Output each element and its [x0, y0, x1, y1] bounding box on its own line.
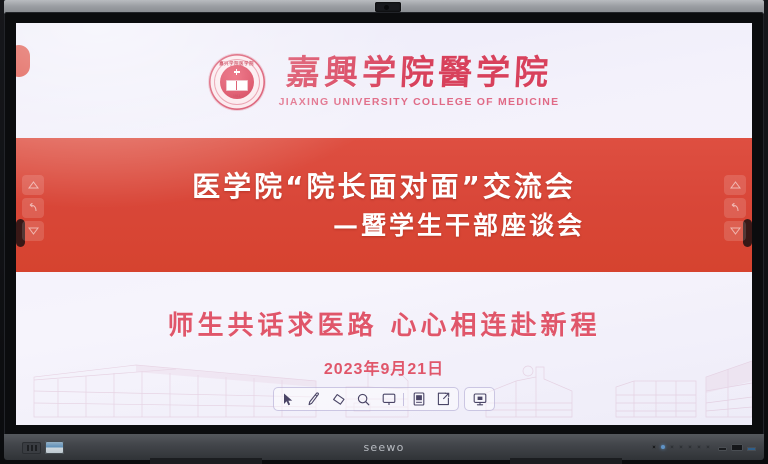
toolbar-eraser-button[interactable]: [326, 389, 351, 409]
eraser-icon: [332, 393, 346, 406]
back-arrow-icon: [729, 203, 741, 213]
toolbar-cast-group[interactable]: [464, 387, 495, 411]
interactive-display-device: 嘉兴学院医学院 1911 嘉興学院醫学院 JIAXING UNIVERSITY …: [0, 0, 768, 464]
camera-module: [375, 2, 401, 12]
chin-indicator-lights: [652, 445, 710, 449]
toolbar-cursor-button[interactable]: [276, 389, 301, 409]
slide-date: 2023年9月21日: [16, 355, 752, 379]
toolbar-search-button[interactable]: [351, 389, 376, 409]
title-banner: 医学院“院长面对面”交流会 —暨学生干部座谈会: [16, 138, 752, 272]
display-screen[interactable]: 嘉兴学院医学院 1911 嘉興学院醫学院 JIAXING UNIVERSITY …: [16, 23, 752, 425]
university-seal-logo: 嘉兴学院医学院 1911: [209, 54, 265, 110]
toolbar-divider: [403, 393, 404, 406]
right-side-nav[interactable]: [724, 175, 746, 241]
stand-leg-right: [510, 458, 622, 464]
institution-name-cn: 嘉興学院醫学院: [285, 56, 553, 92]
back-arrow-icon: [27, 203, 39, 213]
annotation-toolbar[interactable]: [273, 387, 495, 411]
arrow-down-icon: [28, 227, 39, 235]
arrow-down-icon: [730, 227, 741, 235]
port-hdmi[interactable]: [718, 447, 727, 451]
search-icon: [357, 393, 370, 406]
power-led: [652, 445, 656, 449]
institution-wordmark: 嘉興学院醫学院 JIAXING UNIVERSITY COLLEGE OF ME…: [279, 56, 560, 108]
institution-name-en: JIAXING UNIVERSITY COLLEGE OF MEDICINE: [279, 96, 560, 108]
chin-port-cluster[interactable]: [718, 446, 756, 451]
cast-screen-icon: [473, 392, 487, 406]
toolbar-cast-button[interactable]: [467, 389, 492, 409]
pen-icon: [307, 392, 320, 406]
notes-icon: [413, 392, 425, 406]
institution-header: 嘉兴学院医学院 1911 嘉興学院醫学院 JIAXING UNIVERSITY …: [16, 41, 752, 123]
slide-slogan: 师生共话求医路 心心相连赴新程: [16, 305, 752, 342]
toolbar-main-group[interactable]: [273, 387, 459, 411]
stand-leg-left: [150, 458, 262, 464]
share-icon: [437, 392, 450, 406]
device-brand-label: seewo: [4, 441, 764, 454]
sidebar-item-arrow-down-left[interactable]: [22, 221, 44, 241]
arrow-up-icon: [28, 181, 39, 189]
bottom-bezel-chin: seewo: [4, 434, 764, 460]
status-led-3: [688, 445, 692, 449]
toolbar-whiteboard-button[interactable]: [376, 389, 401, 409]
status-led-4: [697, 445, 701, 449]
banner-title-line-2: —暨学生干部座谈会: [16, 210, 752, 241]
arrow-up-icon: [730, 181, 741, 189]
port-usb3[interactable]: [747, 447, 756, 451]
status-led-1: [670, 445, 674, 449]
status-led-blue: [661, 445, 665, 449]
banner-title-line-1: 医学院“院长面对面”交流会: [16, 169, 752, 204]
toolbar-share-button[interactable]: [431, 389, 456, 409]
seal-year-text: 1911: [209, 94, 265, 98]
status-led-5: [706, 445, 710, 449]
toolbar-pen-button[interactable]: [301, 389, 326, 409]
medical-cross-icon: [234, 69, 240, 75]
left-side-nav[interactable]: [22, 175, 44, 241]
cursor-icon: [283, 393, 294, 406]
toolbar-notes-button[interactable]: [406, 389, 431, 409]
sidebar-item-arrow-up-right[interactable]: [724, 175, 746, 195]
whiteboard-icon: [382, 393, 396, 406]
sidebar-item-arrow-up-left[interactable]: [22, 175, 44, 195]
open-book-icon: [226, 80, 248, 91]
sidebar-item-arrow-down-right[interactable]: [724, 221, 746, 241]
status-led-2: [679, 445, 683, 449]
sidebar-item-back-right[interactable]: [724, 198, 746, 218]
port-usb-main[interactable]: [731, 444, 743, 451]
sidebar-item-back-left[interactable]: [22, 198, 44, 218]
